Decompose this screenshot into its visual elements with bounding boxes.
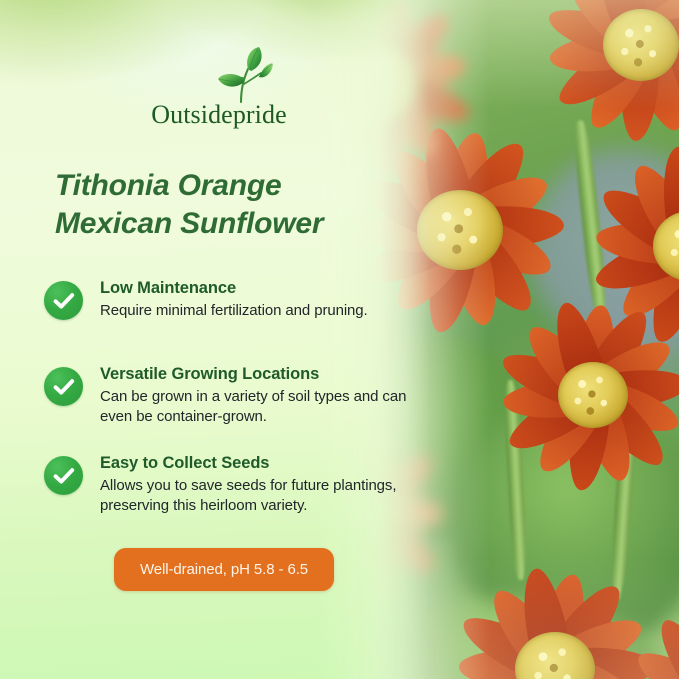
brand-logo[interactable]: Outsidepride [139, 46, 299, 132]
check-circle-icon [44, 367, 83, 406]
feature-title: Versatile Growing Locations [100, 365, 424, 385]
feature-item: Easy to Collect Seeds Allows you to save… [44, 454, 424, 515]
check-circle-icon [44, 456, 83, 495]
feature-item: Versatile Growing Locations Can be grown… [44, 365, 424, 426]
product-infographic: Outsidepride Tithonia Orange Mexican Sun… [0, 0, 679, 679]
page-title-line-1: Tithonia Orange [55, 167, 405, 205]
page-title: Tithonia Orange Mexican Sunflower [55, 167, 405, 243]
brand-wordmark: Outsidepride [139, 102, 299, 128]
check-circle-icon [44, 281, 83, 320]
content-area: Outsidepride Tithonia Orange Mexican Sun… [0, 0, 679, 679]
page-title-line-2: Mexican Sunflower [55, 205, 405, 243]
feature-list: Low Maintenance Require minimal fertiliz… [44, 279, 424, 516]
leaf-sprig-icon [201, 46, 273, 104]
feature-description: Can be grown in a variety of soil types … [100, 387, 424, 427]
feature-item: Low Maintenance Require minimal fertiliz… [44, 279, 424, 337]
feature-description: Require minimal fertilization and prunin… [100, 301, 424, 321]
feature-title: Low Maintenance [100, 279, 424, 299]
feature-description: Allows you to save seeds for future plan… [100, 476, 424, 516]
soil-requirement-badge: Well-drained, pH 5.8 - 6.5 [114, 548, 334, 591]
feature-title: Easy to Collect Seeds [100, 454, 424, 474]
